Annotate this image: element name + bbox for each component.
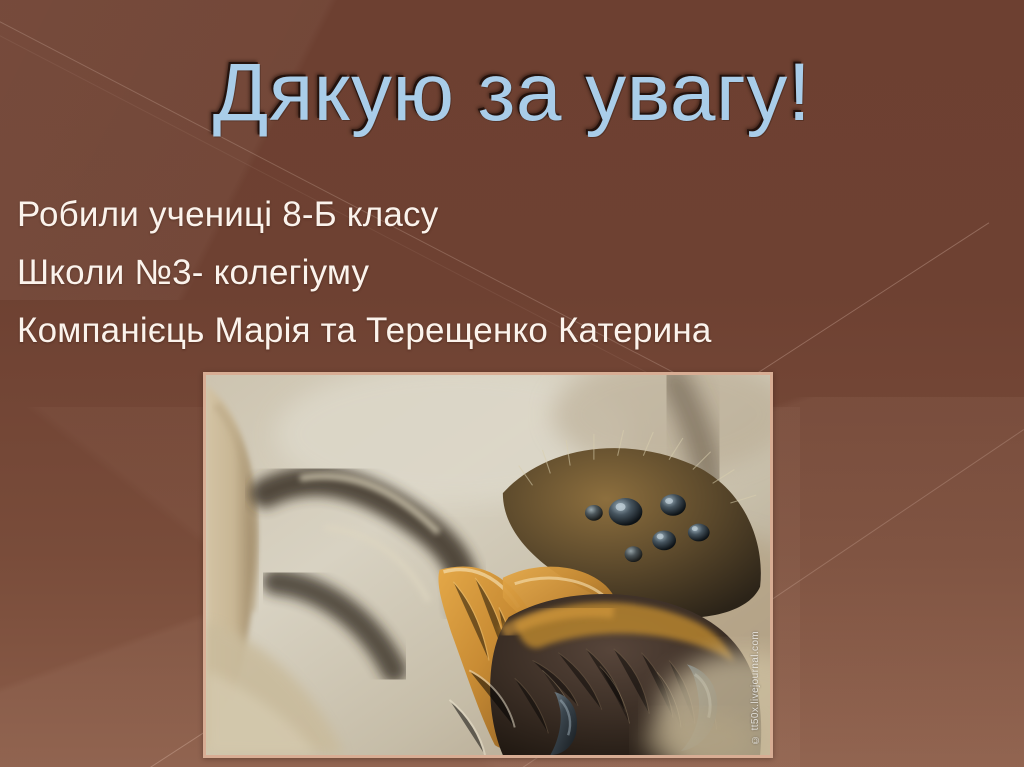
body-line-authors-class: Робили учениці 8-Б класу	[17, 186, 1007, 244]
spider-photo-frame: © tt50x.livejournal.com	[203, 372, 773, 758]
body-line-school: Школи №3- колегіуму	[17, 244, 1007, 302]
spider-photo	[206, 375, 770, 755]
slide-title: Дякую за увагу!	[0, 52, 1024, 134]
presentation-slide: Дякую за увагу! Робили учениці 8-Б класу…	[0, 0, 1024, 767]
slide-body-text: Робили учениці 8-Б класу Школи №3- колег…	[17, 186, 1007, 360]
photo-watermark: © tt50x.livejournal.com	[750, 595, 766, 745]
body-line-author-names: Компанієць Марія та Терещенко Катерина	[17, 302, 1007, 360]
